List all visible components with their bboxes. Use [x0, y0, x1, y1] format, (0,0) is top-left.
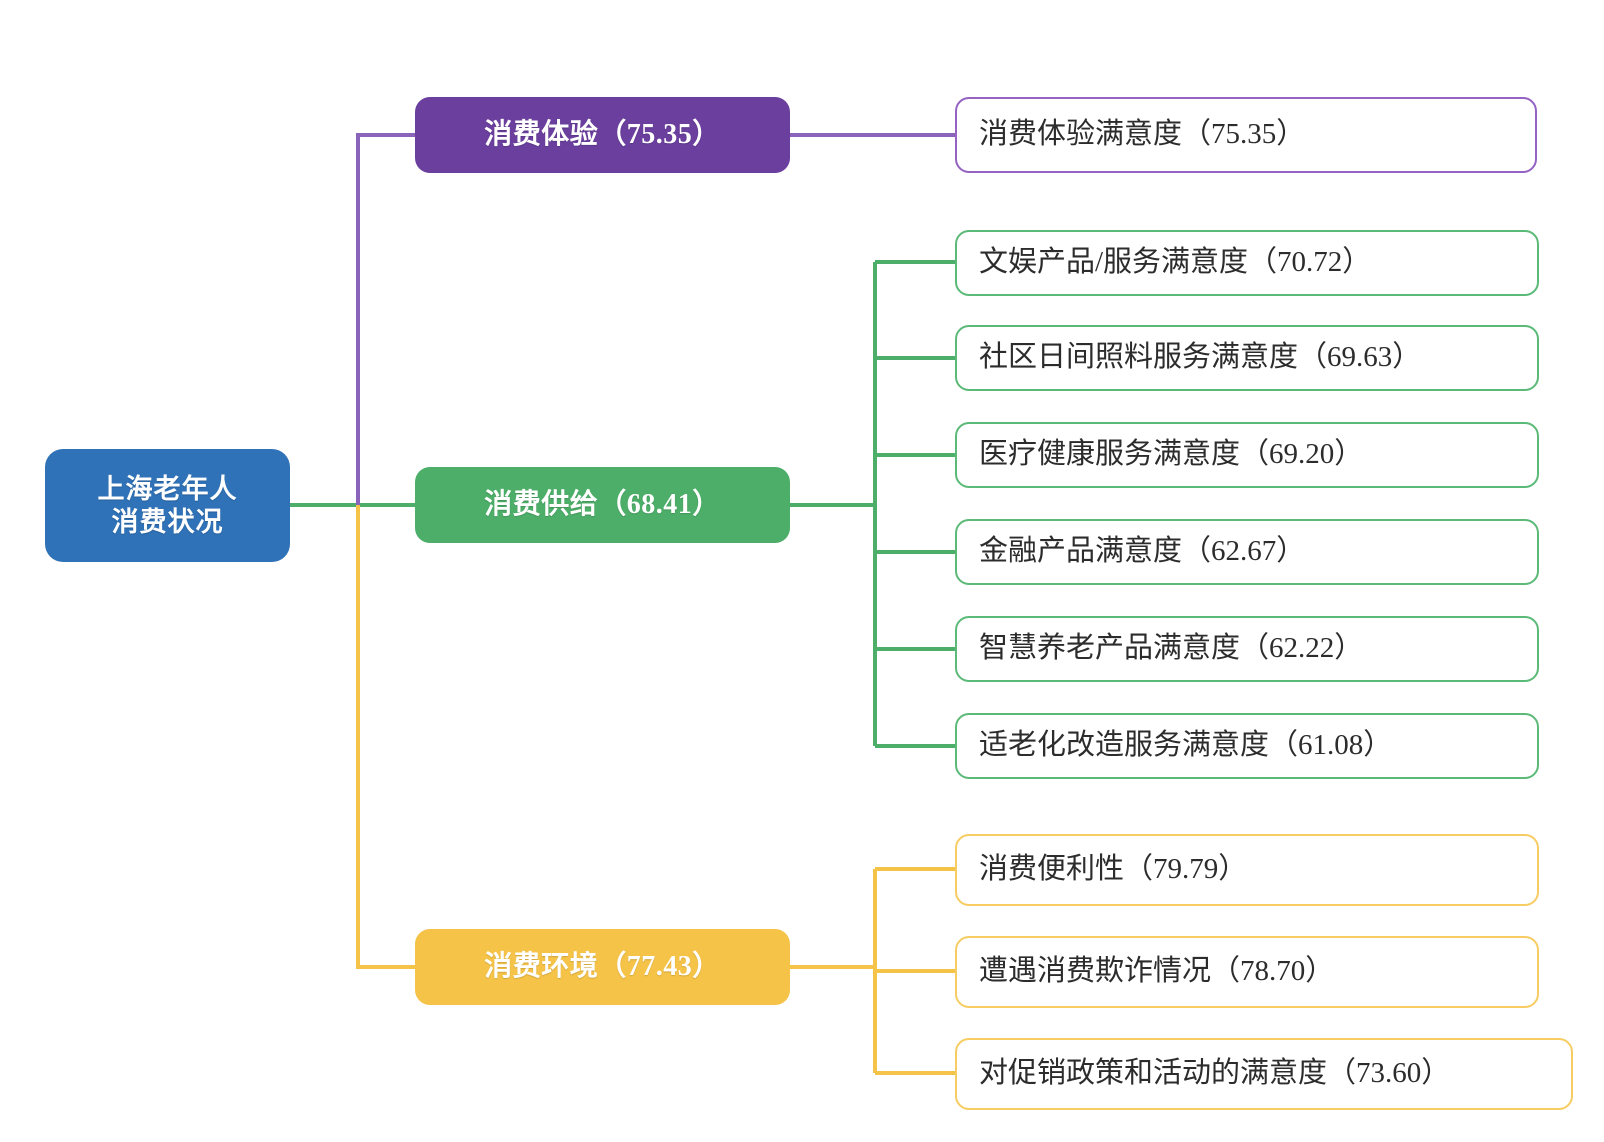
branch-node-environment-label: 消费环境（77.43）	[415, 950, 790, 984]
root-node-label-line1: 上海老年人	[45, 473, 290, 506]
leaf-node-supply-4-label: 智慧养老产品满意度（62.22）	[979, 631, 1523, 666]
root-node[interactable]: 上海老年人 消费状况	[45, 449, 290, 562]
leaf-node-supply-1-label: 社区日间照料服务满意度（69.63）	[979, 340, 1523, 375]
root-node-label: 上海老年人 消费状况	[45, 473, 290, 539]
leaf-node-supply-2[interactable]: 医疗健康服务满意度（69.20）	[955, 422, 1539, 488]
link-root-to-experience	[358, 135, 415, 505]
leaf-node-supply-0-label: 文娱产品/服务满意度（70.72）	[979, 245, 1523, 280]
mindmap-canvas: 上海老年人 消费状况 消费体验（75.35） 消费供给（68.41） 消费环境（…	[0, 0, 1604, 1142]
leaf-node-environment-0[interactable]: 消费便利性（79.79）	[955, 834, 1539, 906]
leaf-node-experience-0-label: 消费体验满意度（75.35）	[979, 117, 1521, 152]
leaf-node-supply-4[interactable]: 智慧养老产品满意度（62.22）	[955, 616, 1539, 682]
leaf-node-supply-1[interactable]: 社区日间照料服务满意度（69.63）	[955, 325, 1539, 391]
leaf-node-environment-1-label: 遭遇消费欺诈情况（78.70）	[979, 954, 1523, 989]
branch-node-supply-label: 消费供给（68.41）	[415, 488, 790, 522]
leaf-node-environment-0-label: 消费便利性（79.79）	[979, 852, 1523, 887]
leaf-node-environment-1[interactable]: 遭遇消费欺诈情况（78.70）	[955, 936, 1539, 1008]
leaf-node-environment-2[interactable]: 对促销政策和活动的满意度（73.60）	[955, 1038, 1573, 1110]
branch-node-environment[interactable]: 消费环境（77.43）	[415, 929, 790, 1005]
leaf-node-supply-3[interactable]: 金融产品满意度（62.67）	[955, 519, 1539, 585]
branch-node-experience[interactable]: 消费体验（75.35）	[415, 97, 790, 173]
leaf-node-supply-5-label: 适老化改造服务满意度（61.08）	[979, 728, 1523, 763]
link-root-to-environment	[358, 505, 415, 967]
leaf-node-environment-2-label: 对促销政策和活动的满意度（73.60）	[979, 1056, 1557, 1091]
branch-node-supply[interactable]: 消费供给（68.41）	[415, 467, 790, 543]
root-node-label-line2: 消费状况	[45, 506, 290, 539]
leaf-node-experience-0[interactable]: 消费体验满意度（75.35）	[955, 97, 1537, 173]
leaf-node-supply-0[interactable]: 文娱产品/服务满意度（70.72）	[955, 230, 1539, 296]
leaf-node-supply-2-label: 医疗健康服务满意度（69.20）	[979, 437, 1523, 472]
leaf-node-supply-3-label: 金融产品满意度（62.67）	[979, 534, 1523, 569]
leaf-node-supply-5[interactable]: 适老化改造服务满意度（61.08）	[955, 713, 1539, 779]
branch-node-experience-label: 消费体验（75.35）	[415, 118, 790, 152]
